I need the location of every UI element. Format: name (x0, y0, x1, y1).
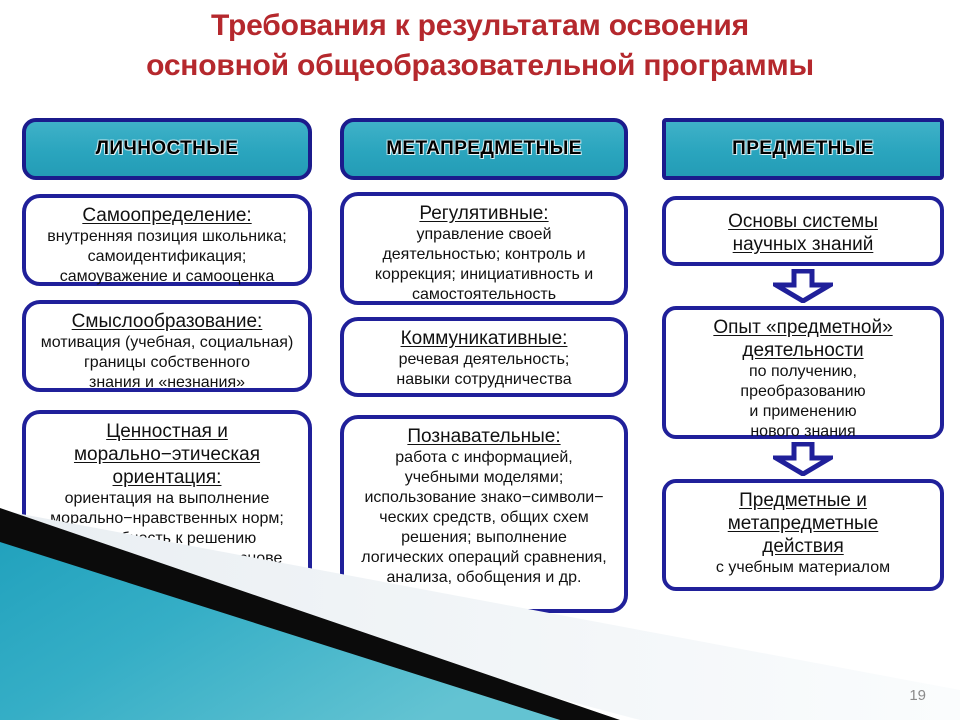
box-heading: Коммуникативные: (348, 327, 620, 350)
box-body: мотивация (учебная, социальная) границы … (30, 333, 304, 393)
box-heading: Регулятивные: (348, 202, 620, 225)
box-body: внутренняя позиция школьника; самоиденти… (30, 227, 304, 287)
box-smysloobrazovanie[interactable]: Смыслообразование: мотивация (учебная, с… (22, 300, 312, 392)
column-lichnostnye: ЛИЧНОСТНЫЕ Самоопределение: внутренняя п… (22, 118, 312, 625)
arrow-1-container (662, 266, 944, 306)
box-heading: Опыт «предметной» деятельности (670, 316, 936, 362)
page-title: Требования к результатам освоения основн… (0, 6, 960, 86)
column-header-label: МЕТАПРЕДМЕТНЫЕ (386, 138, 582, 160)
column-header-metapredmetnye[interactable]: МЕТАПРЕДМЕТНЫЕ (340, 118, 628, 180)
box-predmetnye-metapredmetnye-deystviya[interactable]: Предметные и метапредметные действия с у… (662, 479, 944, 591)
column-predmetnye: ПРЕДМЕТНЫЕ Основы системы научных знаний… (662, 118, 944, 591)
box-body: работа с информацией, учебными моделями;… (348, 448, 620, 588)
column-header-label: ЛИЧНОСТНЫЕ (96, 138, 239, 160)
box-body: управление своей деятельностью; контроль… (348, 225, 620, 305)
box-body: речевая деятельность; навыки сотрудничес… (348, 350, 620, 390)
down-arrow-icon (773, 269, 833, 303)
box-cennostnaya-orientaciya[interactable]: Ценностная и морально−этическая ориентац… (22, 410, 312, 625)
box-poznavatelnye[interactable]: Познавательные: работа с информацией, уч… (340, 415, 628, 613)
box-heading: Основы системы научных знаний (670, 210, 936, 256)
box-opyt-predmetnoy-deyatelnosti[interactable]: Опыт «предметной» деятельности по получе… (662, 306, 944, 439)
box-regulyativnye[interactable]: Регулятивные: управление своей деятельно… (340, 192, 628, 305)
title-line-2: основной общеобразовательной программы (0, 46, 960, 86)
slide-canvas: Требования к результатам освоения основн… (0, 0, 960, 720)
column-metapredmetnye: МЕТАПРЕДМЕТНЫЕ Регулятивные: управление … (340, 118, 628, 613)
column-header-label: ПРЕДМЕТНЫЕ (732, 138, 874, 160)
box-body: ориентация на выполнение морально−нравст… (30, 489, 304, 609)
box-heading: Самоопределение: (30, 204, 304, 227)
down-arrow-icon (773, 442, 833, 476)
box-osnovy-sistemy-znaniy[interactable]: Основы системы научных знаний (662, 196, 944, 266)
box-kommunikativnye[interactable]: Коммуникативные: речевая деятельность; н… (340, 317, 628, 397)
box-samoopredelenie[interactable]: Самоопределение: внутренняя позиция школ… (22, 194, 312, 286)
column-header-lichnostnye[interactable]: ЛИЧНОСТНЫЕ (22, 118, 312, 180)
box-heading: Предметные и метапредметные действия (670, 489, 936, 558)
box-heading: Смыслообразование: (30, 310, 304, 333)
box-heading: Познавательные: (348, 425, 620, 448)
column-header-predmetnye[interactable]: ПРЕДМЕТНЫЕ (662, 118, 944, 180)
box-body: по получению, преобразованию и применени… (670, 362, 936, 442)
arrow-2-container (662, 439, 944, 479)
title-line-1: Требования к результатам освоения (0, 6, 960, 46)
page-number: 19 (909, 687, 926, 704)
box-body: с учебным материалом (670, 558, 936, 578)
box-heading: Ценностная и морально−этическая ориентац… (30, 420, 304, 489)
